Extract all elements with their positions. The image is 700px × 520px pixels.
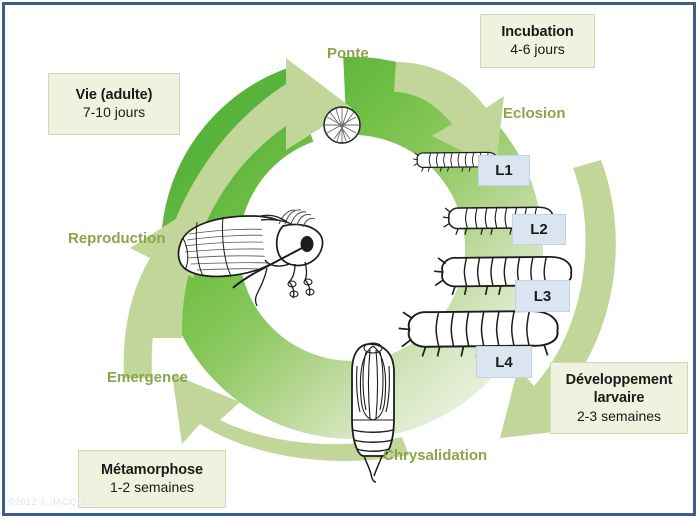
egg-illustration (324, 107, 360, 143)
info-box-title: Développement (566, 371, 673, 390)
info-box-incubation: Incubation 4-6 jours (480, 14, 595, 68)
info-box-developpement-larvaire: Développement larvaire 2-3 semaines (550, 362, 688, 434)
info-box-subtitle: 1-2 semaines (110, 479, 194, 497)
info-box-title: Incubation (501, 23, 573, 42)
phase-label-chrysalidation: Chrysalidation (383, 447, 487, 464)
info-box-subtitle: 7-10 jours (83, 104, 145, 122)
larva-stage-label-l2: L2 (512, 214, 566, 245)
info-box-title: Métamorphose (101, 461, 203, 480)
info-box-subtitle: 2-3 semaines (577, 408, 661, 426)
phase-label-reproduction: Reproduction (68, 230, 166, 247)
info-box-subtitle: 4-6 jours (510, 41, 564, 59)
info-box-title-line2: larvaire (594, 389, 645, 408)
phase-label-emergence: Emergence (107, 369, 188, 386)
phase-label-ponte: Ponte (327, 45, 369, 62)
watermark-credit: ©2012 J. JACQUOT (8, 497, 98, 507)
info-box-title: Vie (adulte) (76, 86, 153, 105)
life-cycle-diagram: Vie (adulte) 7-10 jours Incubation 4-6 j… (0, 0, 700, 520)
larva-stage-label-l3: L3 (515, 280, 570, 312)
phase-label-eclosion: Eclosion (503, 105, 566, 122)
info-box-vie-adulte: Vie (adulte) 7-10 jours (48, 73, 180, 135)
larva-stage-label-l4: L4 (476, 346, 532, 378)
larva-stage-label-l1: L1 (478, 155, 530, 186)
info-box-metamorphose: Métamorphose 1-2 semaines (78, 450, 226, 508)
